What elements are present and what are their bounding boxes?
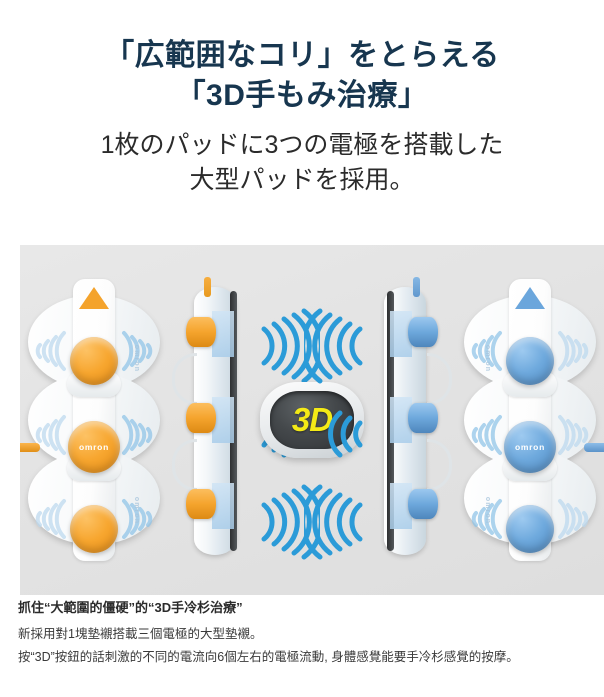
wave-fan-icon <box>304 307 366 385</box>
subheadline-line-1: 1枚のパッドに3つの電極を搭載した <box>0 128 604 164</box>
product-figure-panel: omron omron omron <box>20 245 604 595</box>
side-electrode-bottom <box>408 489 438 519</box>
wave-fan-icon <box>304 395 366 473</box>
caption-line-1: 新採用對1塊墊襯搭載三個電極的大型墊襯。 <box>18 625 592 644</box>
electrode-bottom <box>506 505 554 553</box>
caption-block: 抓住“大範圍的僵硬”的“3D手冷杉治療” 新採用對1塊墊襯搭載三個電極的大型墊襯… <box>18 598 592 671</box>
pad-body-wordmark: omron <box>484 345 491 372</box>
pad-side-right <box>370 287 444 555</box>
electrode-bottom <box>70 505 118 553</box>
subheadline-block: 1枚のパッドに3つの電極を搭載した 大型パッドを採用。 <box>0 128 604 199</box>
pad-body-wordmark: omron <box>133 497 140 524</box>
subheadline-line-2: 大型パッドを採用。 <box>0 163 604 199</box>
pad-printed-arc-icon <box>554 491 594 547</box>
side-electrode-top <box>408 317 438 347</box>
pad-printed-arc-icon <box>118 407 158 463</box>
pad-printed-arc-icon <box>30 407 70 463</box>
pad-front-right: omron omron omron <box>464 295 596 545</box>
pad-body-wordmark: omron <box>133 345 140 372</box>
wave-fan-icon <box>304 483 366 561</box>
triangle-indicator-icon <box>79 287 109 309</box>
caption-heading: 抓住“大範圍的僵硬”的“3D手冷杉治療” <box>18 598 592 618</box>
electrode-top <box>70 337 118 385</box>
pad-connector-tab <box>20 443 40 452</box>
omron-logo: omron <box>504 442 556 452</box>
side-electrode-bottom <box>186 489 216 519</box>
electrode-top <box>506 337 554 385</box>
pad-side-tip <box>204 277 211 297</box>
electrode-middle: omron <box>504 421 556 473</box>
pad-side-left <box>180 287 254 555</box>
pad-printed-arc-icon <box>554 323 594 379</box>
pad-printed-arc-icon <box>30 491 70 547</box>
pad-front-left: omron omron omron <box>28 295 160 545</box>
pad-side-tip <box>413 277 420 297</box>
side-electrode-middle <box>186 403 216 433</box>
pad-printed-arc-icon <box>30 323 70 379</box>
pad-connector-tab <box>584 443 604 452</box>
headline-line-2: 「3D手もみ治療」 <box>0 76 604 116</box>
caption-line-2: 按“3D”按鈕的話刺激的不同的電流向6個左右的電極流動, 身體感覺能要手冷杉感覺… <box>18 648 592 667</box>
pad-printed-arc-icon <box>554 407 594 463</box>
electrode-middle: omron <box>68 421 120 473</box>
side-electrode-top <box>186 317 216 347</box>
headline-block: 「広範囲なコリ」をとらえる 「3D手もみ治療」 <box>0 0 604 116</box>
pad-printed-arc-icon <box>466 407 506 463</box>
side-electrode-middle <box>408 403 438 433</box>
headline-line-1: 「広範囲なコリ」をとらえる <box>0 36 604 76</box>
pad-body-wordmark: omron <box>484 497 491 524</box>
omron-logo: omron <box>68 442 120 452</box>
triangle-indicator-icon <box>515 287 545 309</box>
